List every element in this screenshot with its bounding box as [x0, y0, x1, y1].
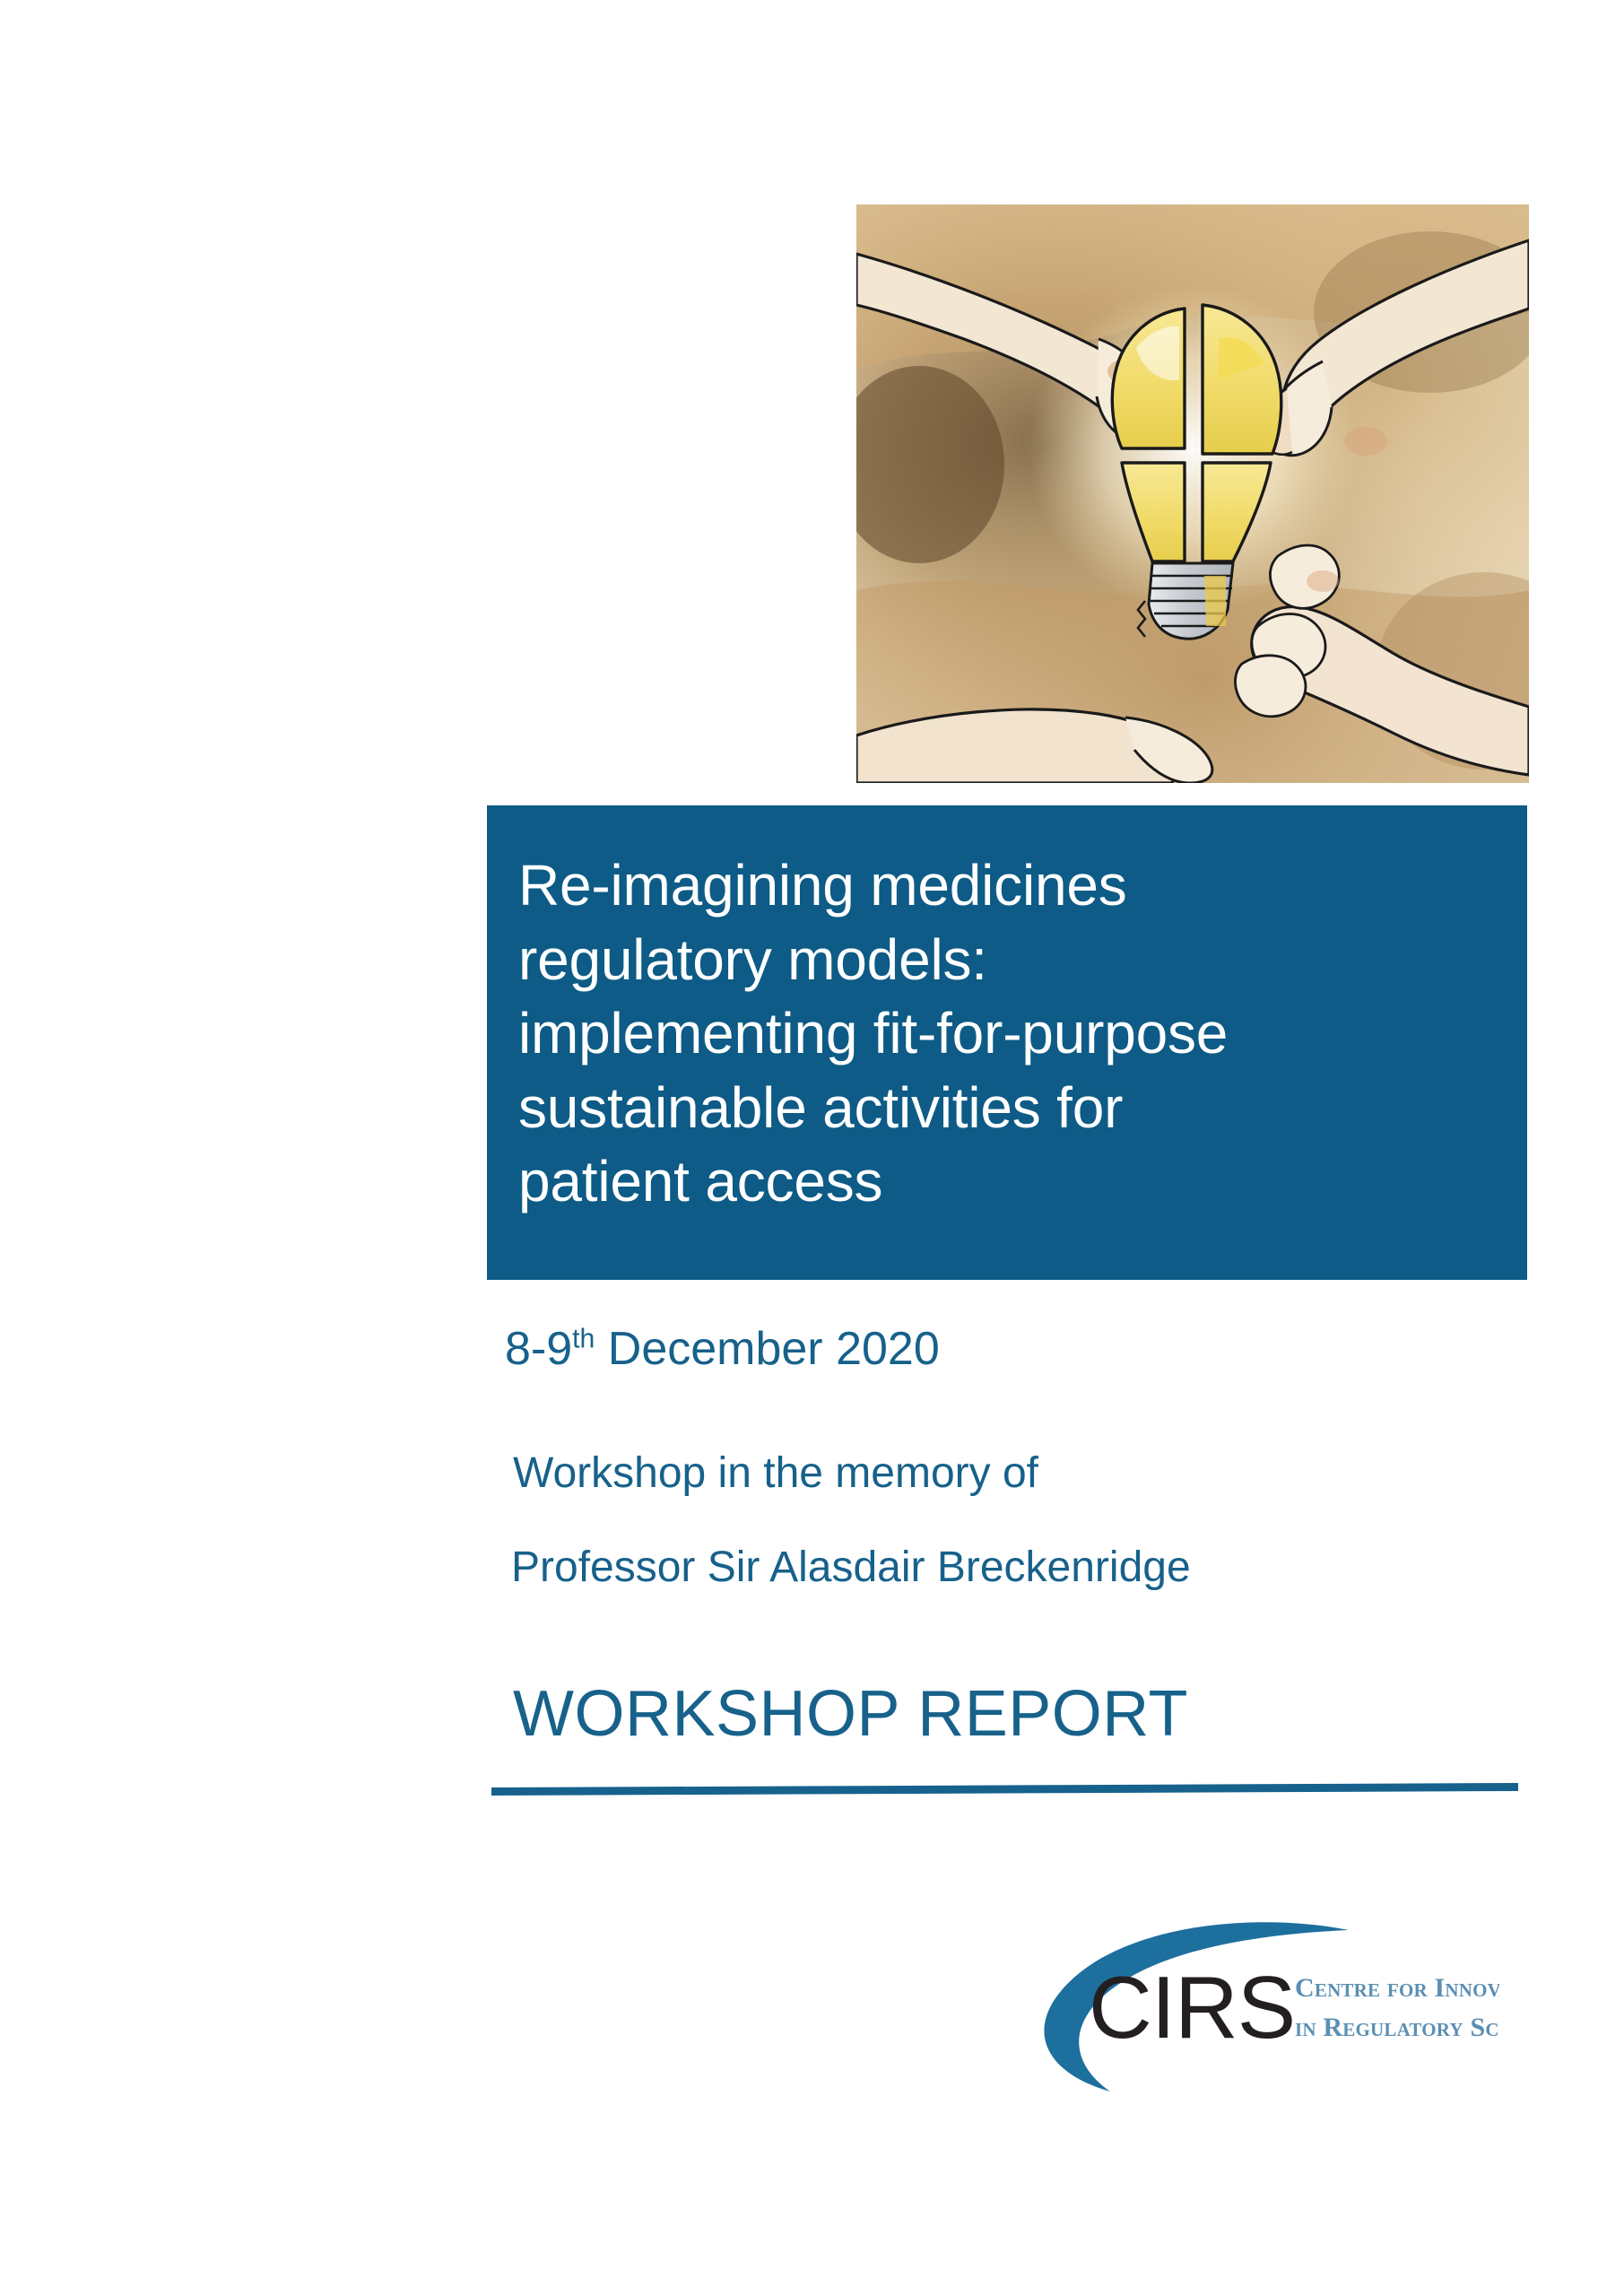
page-title: Re-imagining medicines regulatory models… — [518, 848, 1491, 1219]
divider-line-icon — [491, 1783, 1518, 1796]
cirs-wordmark: CIRS — [1089, 1958, 1295, 2057]
lightbulb-hands-illustration-icon — [856, 204, 1529, 783]
cirs-logo: CIRS Centre for Innovation in Regulatory… — [1033, 1919, 1499, 2099]
event-date-month-year: December 2020 — [595, 1323, 939, 1375]
title-block: Re-imagining medicines regulatory models… — [487, 805, 1527, 1280]
memorial-line-2: Professor Sir Alasdair Breckenridge — [511, 1544, 1191, 1592]
document-page: Re-imagining medicines regulatory models… — [0, 0, 1624, 2296]
cirs-tagline-line-2: in Regulatory Science — [1295, 2013, 1499, 2042]
cover-illustration — [856, 204, 1529, 783]
event-date-day-range: 8-9 — [505, 1323, 572, 1375]
event-date: 8-9th December 2020 — [505, 1324, 940, 1375]
cirs-logo-icon: CIRS Centre for Innovation in Regulatory… — [1033, 1919, 1499, 2099]
cirs-tagline-line-1: Centre for Innovation — [1295, 1973, 1499, 2003]
memorial-line-1: Workshop in the memory of — [513, 1450, 1038, 1498]
report-heading: WORKSHOP REPORT — [513, 1679, 1188, 1750]
title-divider-rule — [491, 1783, 1518, 1796]
event-date-ordinal-suffix: th — [572, 1325, 595, 1354]
